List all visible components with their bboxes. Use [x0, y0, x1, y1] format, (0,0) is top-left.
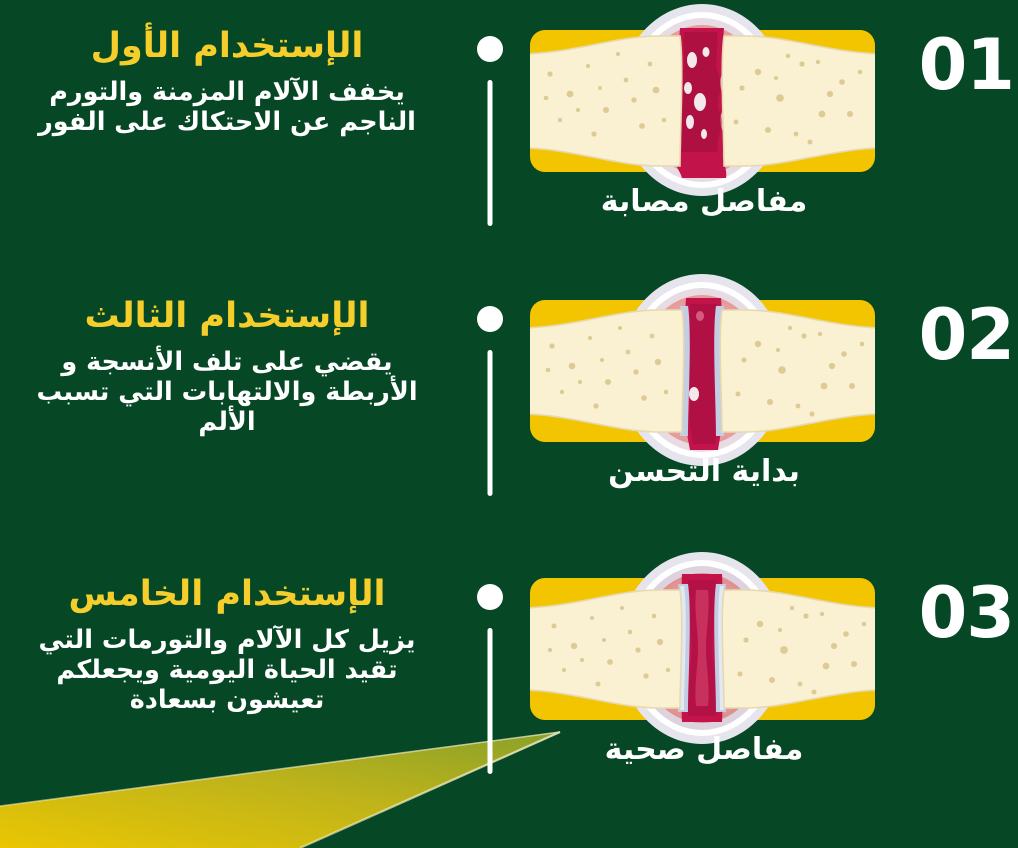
use-title-1: الإستخدام الأول: [91, 28, 364, 65]
joint-illustration-1: [530, 2, 875, 198]
section-row-2: الإستخدام الثالث يقضي على تلف الأنسجة و …: [0, 278, 1018, 543]
section-row-1: الإستخدام الأول يخفف الآلام المزمنة والت…: [0, 8, 1018, 273]
connector-line-icon: [488, 628, 493, 774]
bullet-dot-icon: [477, 36, 503, 62]
infographic-sheet: الإستخدام الأول يخفف الآلام المزمنة والت…: [0, 0, 1018, 848]
section-number-1: 01: [919, 30, 1014, 100]
use-title-3: الإستخدام الخامس: [69, 576, 386, 613]
connector-1: [462, 8, 518, 273]
use-body-1: يخفف الآلام المزمنة والتورم الناجم عن ال…: [17, 77, 437, 137]
joint-cross-section-icon: [530, 550, 875, 746]
figure-caption-1: مفاصل مصابة: [518, 184, 890, 219]
bullet-dot-icon: [477, 306, 503, 332]
figure-caption-3: مفاصل صحية: [518, 732, 890, 767]
connector-3: [462, 556, 518, 821]
section-text-block-2: الإستخدام الثالث يقضي على تلف الأنسجة و …: [0, 278, 462, 543]
section-row-3: الإستخدام الخامس يزيل كل الآلام والتورما…: [0, 556, 1018, 821]
joint-cross-section-icon: [530, 2, 875, 198]
section-text-block-1: الإستخدام الأول يخفف الآلام المزمنة والت…: [0, 8, 462, 273]
connector-line-icon: [488, 350, 493, 496]
section-number-2: 02: [919, 300, 1014, 370]
section-text-block-3: الإستخدام الخامس يزيل كل الآلام والتورما…: [0, 556, 462, 821]
figure-caption-2: بداية التحسن: [518, 454, 890, 489]
bullet-dot-icon: [477, 584, 503, 610]
connector-2: [462, 278, 518, 543]
joint-illustration-3: [530, 550, 875, 746]
use-body-2: يقضي على تلف الأنسجة و الأربطة والالتهاب…: [17, 347, 437, 437]
joint-cross-section-icon: [530, 272, 875, 468]
use-body-3: يزيل كل الآلام والتورمات التي تقيد الحيا…: [17, 625, 437, 715]
joint-illustration-2: [530, 272, 875, 468]
section-number-3: 03: [919, 578, 1014, 648]
connector-line-icon: [488, 80, 493, 226]
use-title-2: الإستخدام الثالث: [84, 298, 369, 335]
